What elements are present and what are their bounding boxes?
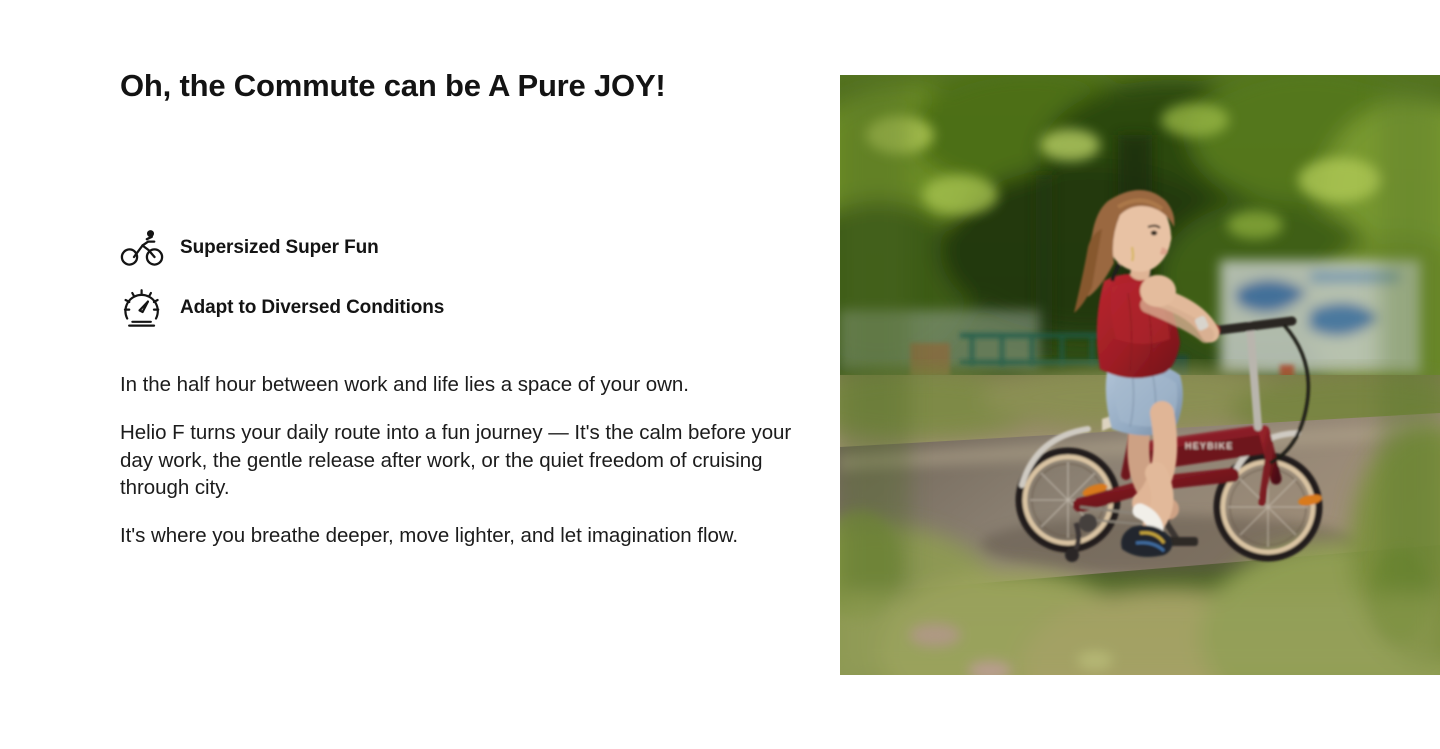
body-paragraph: Helio F turns your daily route into a fu… (120, 419, 792, 501)
feature-label: Adapt to Diversed Conditions (180, 297, 444, 320)
feature-list: Supersized Super Fun (120, 222, 800, 342)
feature-item-adapt-to-diversed-conditions: Adapt to Diversed Conditions (120, 282, 800, 334)
speedometer-icon (120, 285, 166, 331)
cyclist-icon (120, 225, 166, 271)
feature-label: Supersized Super Fun (180, 237, 379, 260)
page-root: Oh, the Commute can be A Pure JOY! Super (0, 0, 1440, 749)
body-copy: In the half hour between work and life l… (120, 371, 792, 549)
hero-photo-illustration: HEYBIKE (840, 75, 1440, 675)
content-column: Oh, the Commute can be A Pure JOY! Super (120, 0, 800, 749)
hero-photo: HEYBIKE (840, 75, 1440, 675)
feature-item-supersized-super-fun: Supersized Super Fun (120, 222, 800, 274)
svg-text:HEYBIKE: HEYBIKE (1185, 441, 1233, 451)
page-title: Oh, the Commute can be A Pure JOY! (120, 68, 800, 105)
body-paragraph: In the half hour between work and life l… (120, 371, 792, 398)
body-paragraph: It's where you breathe deeper, move ligh… (120, 522, 792, 549)
